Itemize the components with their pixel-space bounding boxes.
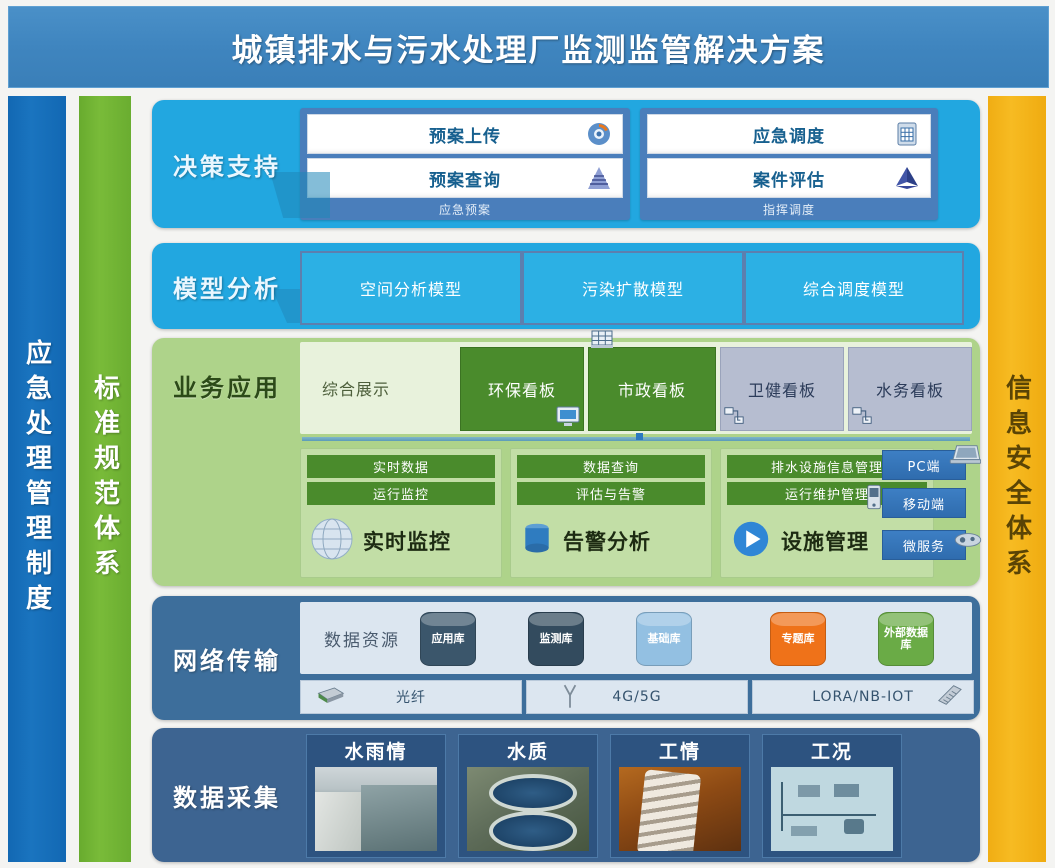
pillar-emergency-management: 应急处理管理制度 — [8, 96, 66, 862]
network-link-lora-label: LORA/NB-IOT — [812, 689, 914, 705]
board-municipal[interactable]: 市政看板 — [588, 347, 716, 431]
business-feature-realtime-monitor[interactable]: 实时监控 — [309, 511, 495, 571]
business-feature-realtime-monitor-label: 实时监控 — [363, 526, 451, 556]
data-card-works-status[interactable]: 工情 — [610, 734, 750, 858]
layer-data-label: 数据采集 — [152, 728, 302, 862]
diagram-canvas: 城镇排水与污水处理厂监测监管解决方案 应急处理管理制度 标准规范体系 信息安全体… — [0, 0, 1055, 868]
model-item-spatial-analysis[interactable]: 空间分析模型 — [300, 251, 522, 325]
database-basic-label: 基础库 — [648, 633, 681, 645]
sedimentation-tanks-photo — [467, 767, 589, 851]
building-icon — [589, 328, 615, 352]
business-overview-panel: 综合展示 环保看板 市政看板 — [300, 342, 972, 434]
business-feature-facility-management-label: 设施管理 — [781, 526, 869, 556]
layer-model-analysis: 模型分析 空间分析模型 污染扩散模型 综合调度模型 — [152, 243, 980, 329]
board-health-label: 卫健看板 — [748, 377, 816, 401]
scada-schematic-photo — [771, 767, 893, 851]
database-thematic[interactable]: 专题库 — [770, 612, 826, 666]
pillar-security-label: 信息安全体系 — [999, 374, 1036, 584]
business-strip-realtime-data[interactable]: 实时数据 — [307, 455, 495, 478]
business-strip-data-query[interactable]: 数据查询 — [517, 455, 705, 478]
decision-item-emergency-dispatch[interactable]: 应急调度 — [647, 114, 931, 154]
data-card-operating-condition-label: 工况 — [763, 735, 901, 765]
network-data-resource-label: 数据资源 — [312, 602, 412, 674]
decision-item-case-assessment[interactable]: 案件评估 — [647, 158, 931, 198]
database-monitoring-label: 监测库 — [540, 633, 573, 645]
decision-group-command-dispatch: 应急调度 案件评估 — [640, 108, 938, 220]
device-mobile-label: 移动端 — [903, 494, 945, 513]
business-feature-alarm-analysis[interactable]: 告警分析 — [519, 511, 705, 571]
model-item-pollution-diffusion[interactable]: 污染扩散模型 — [522, 251, 744, 325]
layer-network-label: 网络传输 — [152, 596, 302, 720]
decision-item-case-assessment-label: 案件评估 — [753, 166, 825, 191]
board-municipal-label: 市政看板 — [618, 377, 686, 401]
decision-item-plan-query-label: 预案查询 — [429, 166, 501, 191]
calendar-grid-icon — [894, 121, 920, 147]
layer-business-application: 业务应用 综合展示 环保看板 市政看板 — [152, 338, 980, 586]
pillar-information-security: 信息安全体系 — [988, 96, 1046, 862]
layer-data-collection: 数据采集 水雨情 水质 工情 工况 — [152, 728, 980, 862]
business-strip-operation-monitor[interactable]: 运行监控 — [307, 482, 495, 505]
network-link-4g5g-label: 4G/5G — [612, 689, 661, 705]
network-link-4g5g[interactable]: 4G/5G — [526, 680, 748, 714]
layer-decision-support: 决策支持 预案上传 预案查询 — [152, 100, 980, 228]
layer-decision-label: 决策支持 — [152, 100, 302, 228]
data-card-operating-condition[interactable]: 工况 — [762, 734, 902, 858]
cycle-swirl-icon — [586, 121, 612, 147]
model-item-spatial-analysis-label: 空间分析模型 — [360, 276, 462, 300]
globe-icon — [309, 516, 355, 566]
play-circle-icon — [729, 517, 773, 565]
data-card-water-rain[interactable]: 水雨情 — [306, 734, 446, 858]
network-data-resource-panel: 数据资源 应用库 监测库 基础库 专题库 外部数据库 — [300, 602, 972, 674]
database-thematic-label: 专题库 — [782, 633, 815, 645]
device-pc[interactable]: PC端 — [882, 450, 966, 480]
board-health[interactable]: 卫健看板 — [720, 347, 844, 431]
layer-business-label: 业务应用 — [152, 368, 302, 403]
network-link-fiber-label: 光纤 — [396, 687, 426, 707]
decision-item-emergency-dispatch-label: 应急调度 — [753, 122, 825, 147]
database-external[interactable]: 外部数据库 — [878, 612, 934, 666]
data-card-works-status-label: 工情 — [611, 735, 749, 765]
database-application[interactable]: 应用库 — [420, 612, 476, 666]
pyramid-3d-icon — [894, 165, 920, 191]
network-node-icon — [722, 405, 748, 429]
data-card-water-quality[interactable]: 水质 — [458, 734, 598, 858]
microservice-icon — [953, 529, 983, 553]
device-mobile[interactable]: 移动端 — [882, 488, 966, 518]
device-microservice[interactable]: 微服务 — [882, 530, 966, 560]
diagram-title-bar: 城镇排水与污水处理厂监测监管解决方案 — [8, 6, 1049, 88]
pillar-emergency-label: 应急处理管理制度 — [19, 339, 56, 619]
database-monitoring[interactable]: 监测库 — [528, 612, 584, 666]
pyramid-layers-icon — [586, 165, 612, 191]
decision-item-plan-upload-label: 预案上传 — [429, 122, 501, 147]
device-pc-label: PC端 — [908, 456, 941, 475]
business-overview-label: 综合展示 — [310, 342, 402, 434]
network-link-lora[interactable]: LORA/NB-IOT — [752, 680, 974, 714]
database-icon — [519, 518, 555, 564]
model-item-integrated-dispatch[interactable]: 综合调度模型 — [744, 251, 964, 325]
decision-item-plan-query[interactable]: 预案查询 — [307, 158, 623, 198]
network-link-fiber[interactable]: 光纤 — [300, 680, 522, 714]
laptop-icon — [949, 443, 981, 471]
decision-item-plan-upload[interactable]: 预案上传 — [307, 114, 623, 154]
antenna-icon — [561, 682, 579, 714]
mobile-phone-icon — [865, 483, 883, 515]
decision-group-emergency-plan: 预案上传 预案查询 — [300, 108, 630, 220]
fiber-optic-icon — [315, 684, 345, 710]
network-node-icon — [850, 405, 876, 429]
board-environment-label: 环保看板 — [488, 377, 556, 401]
database-application-label: 应用库 — [432, 633, 465, 645]
layer-network-transmission: 网络传输 数据资源 应用库 监测库 基础库 专题库 外部数据库 — [152, 596, 980, 720]
board-environment[interactable]: 环保看板 — [460, 347, 584, 431]
business-strip-assessment-alarm[interactable]: 评估与告警 — [517, 482, 705, 505]
database-basic[interactable]: 基础库 — [636, 612, 692, 666]
decision-group-emergency-plan-caption: 应急预案 — [300, 200, 630, 218]
data-card-water-quality-label: 水质 — [459, 735, 597, 765]
page-title: 城镇排水与污水处理厂监测监管解决方案 — [232, 25, 826, 70]
device-microservice-label: 微服务 — [903, 536, 945, 555]
board-water-affairs[interactable]: 水务看板 — [848, 347, 972, 431]
business-column-alarm: 数据查询 评估与告警 告警分析 — [510, 448, 712, 578]
sensor-module-icon — [933, 682, 965, 712]
pillar-standard-label: 标准规范体系 — [87, 374, 124, 584]
database-external-label: 外部数据库 — [879, 627, 933, 651]
board-water-affairs-label: 水务看板 — [876, 377, 944, 401]
business-divider — [302, 437, 970, 441]
business-feature-alarm-analysis-label: 告警分析 — [563, 526, 651, 556]
monitor-icon — [555, 404, 581, 428]
data-card-water-rain-label: 水雨情 — [307, 735, 445, 765]
pillar-standards-system: 标准规范体系 — [79, 96, 131, 862]
pipeline-trench-photo — [619, 767, 741, 851]
layer-model-label: 模型分析 — [152, 243, 302, 329]
model-item-pollution-diffusion-label: 污染扩散模型 — [582, 276, 684, 300]
decision-group-command-dispatch-caption: 指挥调度 — [640, 200, 938, 218]
canal-embankment-photo — [315, 767, 437, 851]
model-item-integrated-dispatch-label: 综合调度模型 — [803, 276, 905, 300]
business-column-monitoring: 实时数据 运行监控 实时监控 — [300, 448, 502, 578]
